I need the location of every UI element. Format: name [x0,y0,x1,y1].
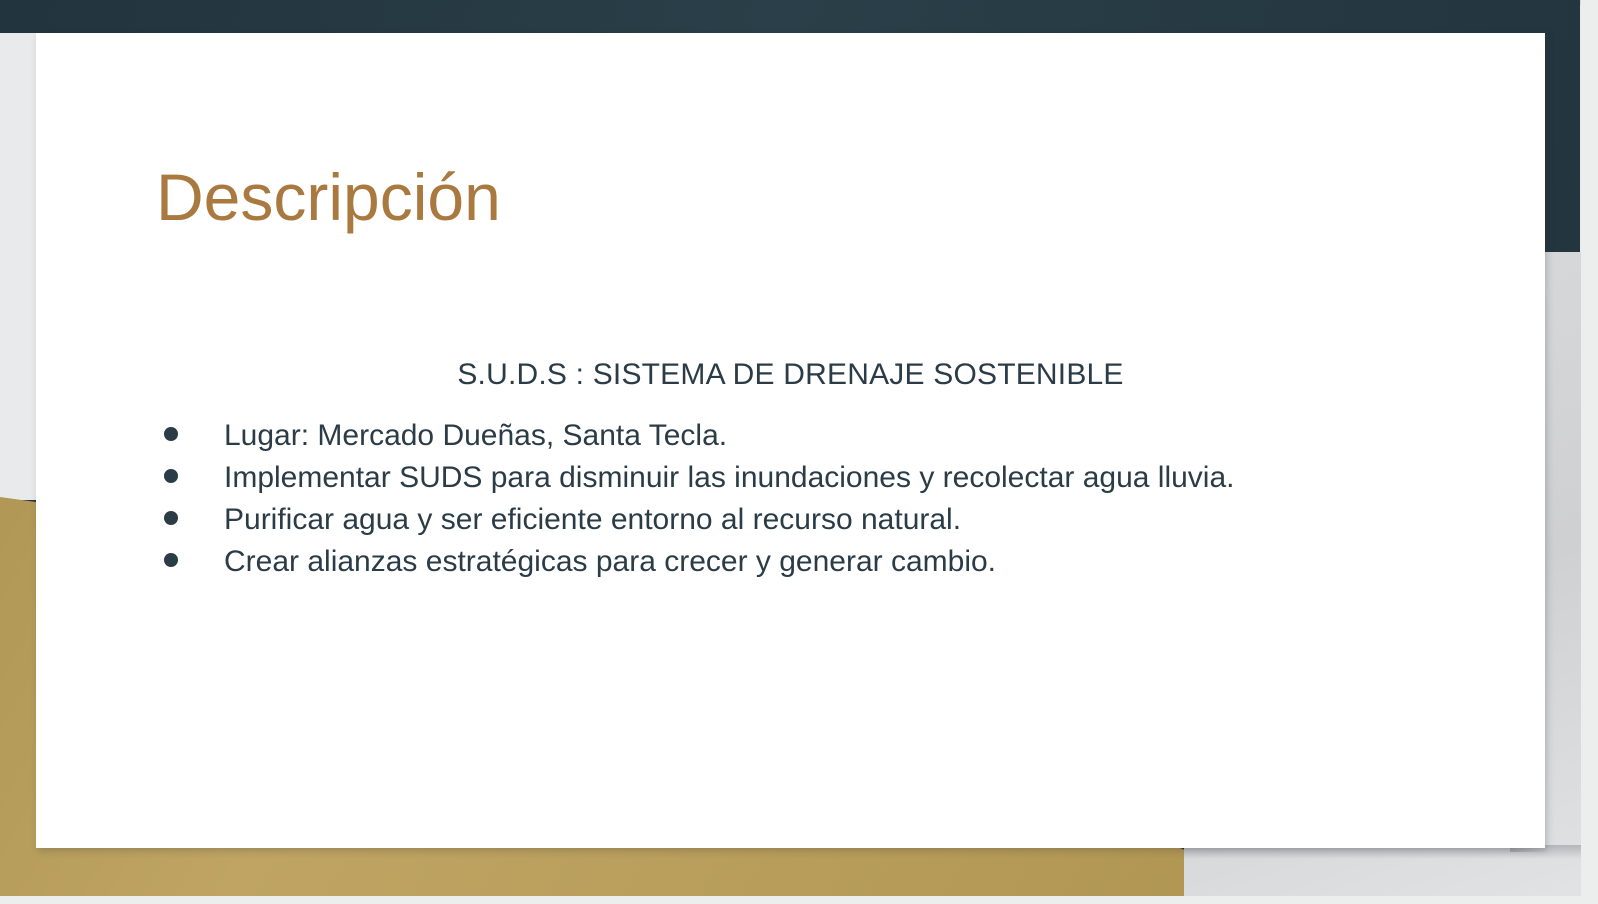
bullet-dot-icon [164,553,178,567]
list-item: Purificar agua y ser eficiente entorno a… [164,499,1494,541]
list-item: Implementar SUDS para disminuir las inun… [164,457,1494,499]
slide-bottom-edge [0,896,1598,904]
list-item-label: Implementar SUDS para disminuir las inun… [224,457,1494,499]
list-item: Lugar: Mercado Dueñas, Santa Tecla. [164,415,1494,457]
bullet-dot-icon [164,511,178,525]
slide-subtitle: S.U.D.S : SISTEMA DE DRENAJE SOSTENIBLE [36,358,1545,392]
page-title: Descripción [156,161,501,234]
list-item-label: Purificar agua y ser eficiente entorno a… [224,499,1494,541]
bullet-list: Lugar: Mercado Dueñas, Santa Tecla. Impl… [164,415,1494,583]
slide-content-area: Descripción S.U.D.S : SISTEMA DE DRENAJE… [36,33,1545,848]
slide-right-edge [1581,0,1598,904]
presentation-slide: Descripción S.U.D.S : SISTEMA DE DRENAJE… [0,0,1598,904]
list-item-label: Crear alianzas estratégicas para crecer … [224,541,1494,583]
bullet-dot-icon [164,427,178,441]
list-item-label: Lugar: Mercado Dueñas, Santa Tecla. [224,415,1494,457]
bullet-dot-icon [164,469,178,483]
list-item: Crear alianzas estratégicas para crecer … [164,541,1494,583]
